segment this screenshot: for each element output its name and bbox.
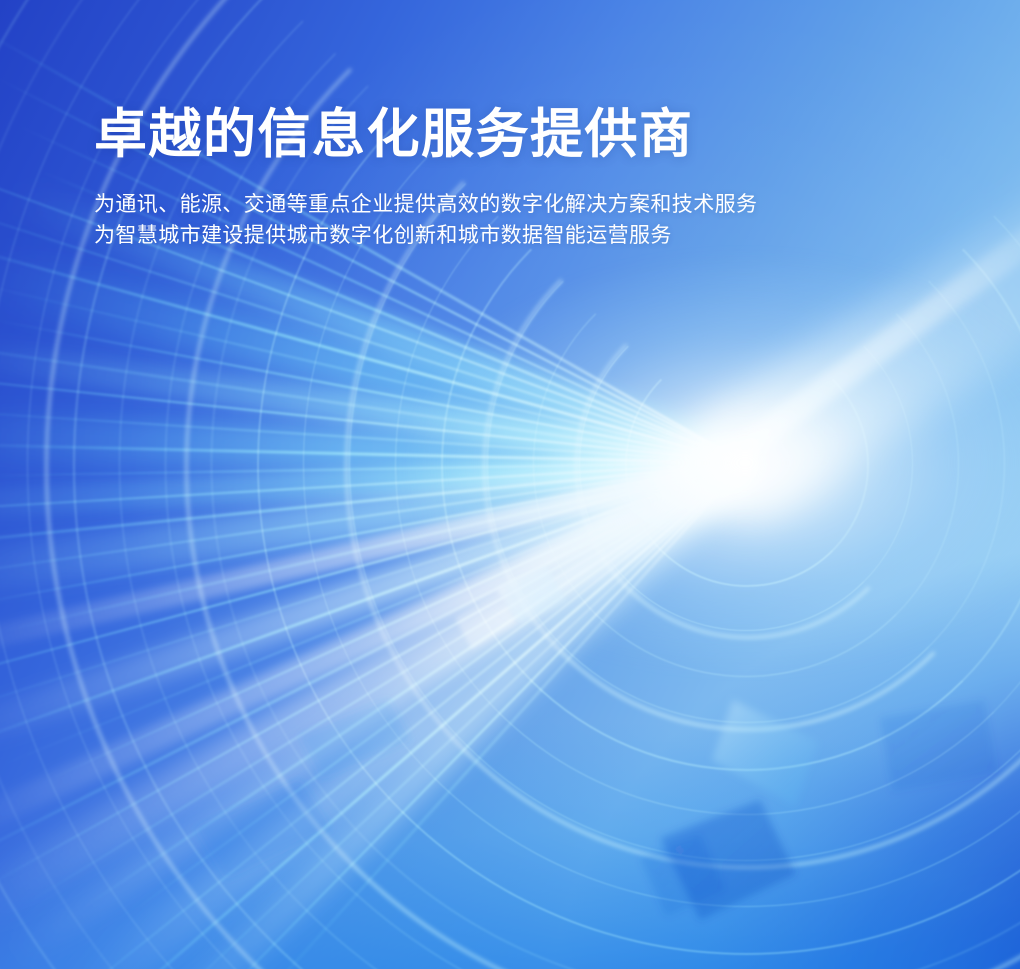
chevron-plate-far-right [880, 700, 998, 792]
chevron-plate-dark-bottom-right [640, 800, 796, 920]
hero-text-block: 卓越的信息化服务提供商 为通讯、能源、交通等重点企业提供高效的数字化解决方案和技… [94, 104, 757, 251]
page-title: 卓越的信息化服务提供商 [94, 104, 757, 165]
chevron-plate-right [712, 700, 818, 806]
subtitle-line-1: 为通讯、能源、交通等重点企业提供高效的数字化解决方案和技术服务 [94, 189, 757, 220]
subtitle-line-2: 为智慧城市建设提供城市数字化创新和城市数据智能运营服务 [94, 220, 757, 251]
hero-subtitle-group: 为通讯、能源、交通等重点企业提供高效的数字化解决方案和技术服务 为智慧城市建设提… [94, 189, 757, 251]
chevron-plate-lower-left [196, 700, 410, 878]
hero-banner: 卓越的信息化服务提供商 为通讯、能源、交通等重点企业提供高效的数字化解决方案和技… [0, 0, 1020, 969]
